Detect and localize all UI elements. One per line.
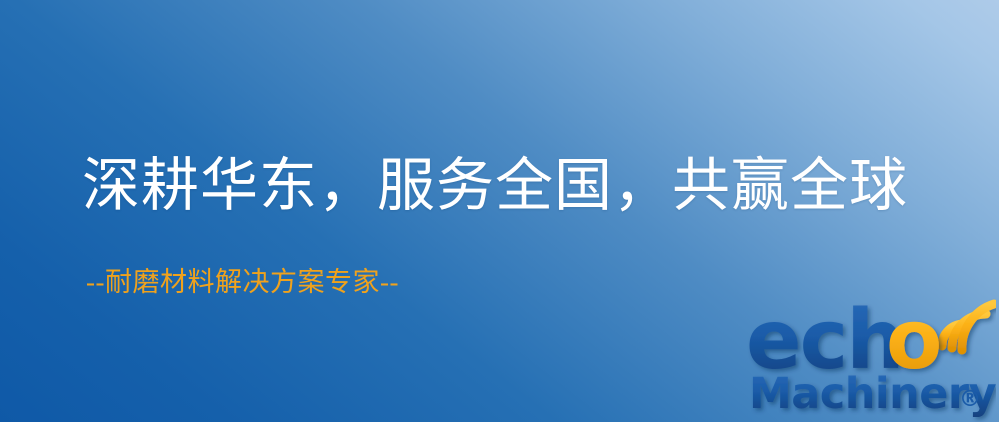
banner-content: 深耕华东，服务全国，共赢全球 --耐磨材料解决方案专家-- (0, 0, 999, 422)
promotional-banner: 深耕华东，服务全国，共赢全球 --耐磨材料解决方案专家-- (0, 0, 999, 422)
echo-wave-arcs (942, 304, 994, 350)
registered-trademark-icon: ® (959, 387, 981, 412)
echo-machinery-logo[interactable]: ech o Machinery ® (746, 292, 996, 422)
banner-headline: 深耕华东，服务全国，共赢全球 (82, 152, 908, 220)
banner-subtitle: --耐磨材料解决方案专家-- (86, 266, 399, 298)
